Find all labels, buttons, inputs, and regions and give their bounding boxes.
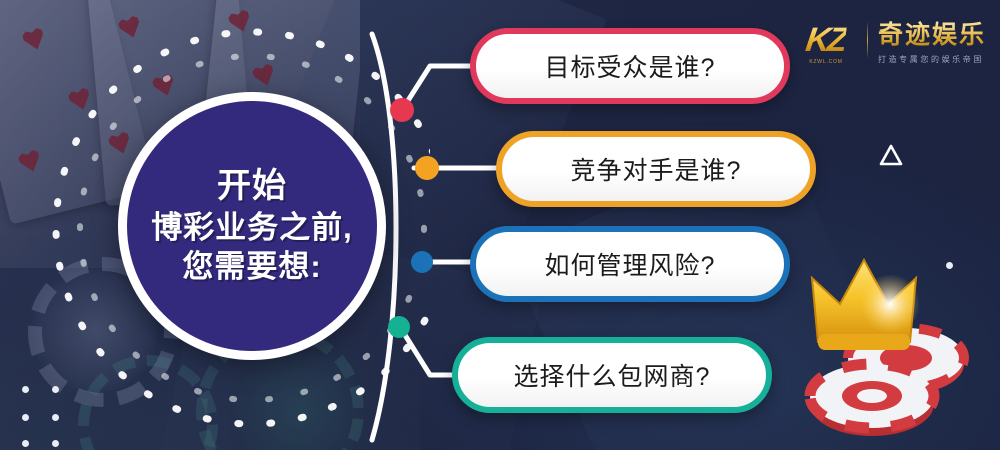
kz-logo-subtext: KZWL.COM bbox=[809, 59, 842, 65]
node-dot-4 bbox=[388, 316, 410, 338]
question-pill-3[interactable]: 如何管理风险? bbox=[470, 226, 790, 302]
node-dot-1 bbox=[390, 98, 414, 122]
hub-line-2: 博彩业务之前, bbox=[151, 210, 353, 246]
hub-line-1: 开始 bbox=[217, 167, 287, 206]
brand-name: 奇迹娱乐 bbox=[878, 15, 986, 51]
question-pill-1[interactable]: 目标受众是谁? bbox=[470, 28, 790, 104]
question-label-3: 如何管理风险? bbox=[545, 246, 716, 282]
node-dot-3 bbox=[411, 251, 433, 273]
kz-logo-mark: KZ KZWL.COM bbox=[795, 14, 857, 66]
node-dot-2 bbox=[415, 156, 439, 180]
logo-divider bbox=[867, 21, 868, 59]
logo-text-block: 奇迹娱乐 打造专属您的娱乐帝国 bbox=[878, 15, 986, 65]
hub-line-3: 您需要想: bbox=[182, 249, 321, 285]
brand-logo: KZ KZWL.COM 奇迹娱乐 打造专属您的娱乐帝国 bbox=[795, 14, 986, 66]
question-pill-4[interactable]: 选择什么包网商? bbox=[452, 337, 772, 413]
question-label-2: 竞争对手是谁? bbox=[571, 151, 742, 187]
branch-line-1 bbox=[402, 66, 476, 110]
question-pill-2[interactable]: 竞争对手是谁? bbox=[496, 131, 816, 207]
brand-tagline: 打造专属您的娱乐帝国 bbox=[878, 54, 986, 65]
question-label-4: 选择什么包网商? bbox=[514, 357, 711, 393]
infographic-canvas: 开始 博彩业务之前, 您需要想: 目标受众是谁? 竞争对手是谁? 如何管理风险?… bbox=[0, 0, 1000, 450]
kz-monogram: KZ bbox=[804, 21, 849, 60]
question-label-1: 目标受众是谁? bbox=[545, 48, 716, 84]
center-hub: 开始 博彩业务之前, 您需要想: bbox=[118, 92, 386, 360]
